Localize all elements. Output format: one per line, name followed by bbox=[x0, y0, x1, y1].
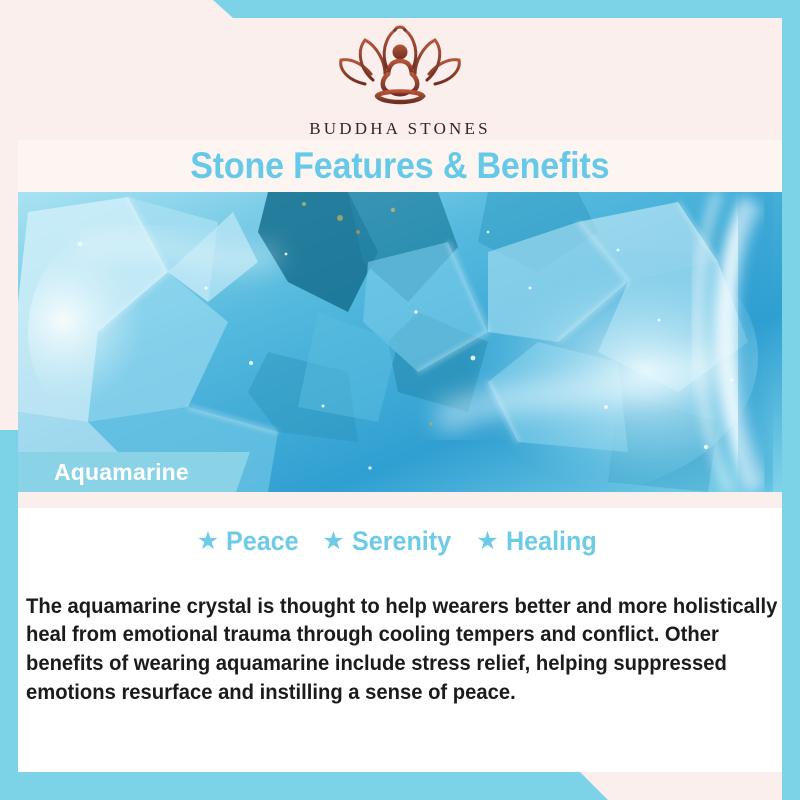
brand-name: BUDDHA STONES bbox=[309, 119, 491, 139]
stone-name-banner: Aquamarine bbox=[18, 452, 250, 492]
infographic-card: BUDDHA STONES Stone Features & Benefits bbox=[0, 0, 800, 800]
frame-top-accent bbox=[213, 0, 800, 18]
benefit-label: Peace bbox=[226, 526, 299, 557]
stone-description: The aquamarine crystal is thought to hel… bbox=[26, 592, 787, 707]
frame-left-accent bbox=[0, 430, 18, 800]
benefits-list: ★ Peace ★ Serenity ★ Healing bbox=[18, 526, 782, 557]
page-title: Stone Features & Benefits bbox=[190, 145, 609, 187]
brand-logo: BUDDHA STONES bbox=[309, 24, 491, 139]
lotus-meditation-icon bbox=[335, 24, 465, 115]
benefit-item-serenity: ★ Serenity bbox=[322, 526, 458, 557]
benefit-label: Serenity bbox=[352, 526, 451, 557]
benefit-item-healing: ★ Healing bbox=[476, 526, 603, 557]
hero-image: Aquamarine bbox=[18, 192, 782, 492]
star-icon: ★ bbox=[322, 529, 344, 554]
frame-bottom-accent bbox=[0, 772, 608, 800]
benefit-item-peace: ★ Peace bbox=[197, 526, 305, 557]
star-icon: ★ bbox=[476, 529, 498, 554]
star-icon: ★ bbox=[197, 529, 219, 554]
benefit-label: Healing bbox=[506, 526, 597, 557]
title-banner: Stone Features & Benefits bbox=[18, 140, 782, 192]
brand-header: BUDDHA STONES bbox=[18, 18, 782, 140]
content-panel: ★ Peace ★ Serenity ★ Healing The aquamar… bbox=[18, 492, 782, 772]
stone-name-label: Aquamarine bbox=[54, 459, 189, 486]
card-body: BUDDHA STONES Stone Features & Benefits bbox=[18, 18, 782, 772]
